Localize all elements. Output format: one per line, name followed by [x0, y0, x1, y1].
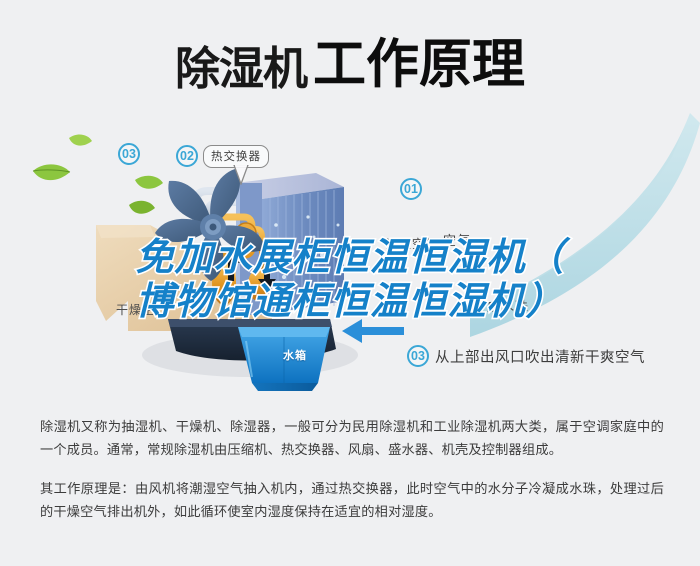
step-marker-02: 02 — [176, 145, 198, 167]
caption-text-03: 从上部出风口吹出清新干爽空气 — [435, 346, 645, 367]
page-title: 除湿机工作原理 — [0, 22, 700, 98]
dehumidifier-diagram: 03 干燥空气 02 热交换器 01 潮湿空气 水箱 空气 成水珠 03 从上部… — [0, 105, 700, 410]
caption-row-03: 03 从上部出风口吹出清新干爽空气 — [407, 345, 645, 367]
body-paragraph-1: 除湿机又称为抽湿机、干燥机、除湿器，一般可分为民用除湿机和工业除湿机两大类，属于… — [40, 415, 664, 461]
step-marker-01: 01 — [400, 178, 422, 200]
body-copy: 除湿机又称为抽湿机、干燥机、除湿器，一般可分为民用除湿机和工业除湿机两大类，属于… — [40, 415, 664, 523]
step-marker-03: 03 — [118, 143, 140, 165]
body-paragraph-2: 其工作原理是：由风机将潮湿空气抽入机内，通过热交换器，此时空气中的水分子冷凝成水… — [40, 477, 664, 523]
intake-arrow — [342, 319, 404, 343]
water-tank-label: 水箱 — [283, 347, 307, 363]
page-title-part2: 工作原理 — [313, 35, 525, 94]
callout-tail-icon — [232, 165, 250, 185]
humid-air-label: 潮湿空气 — [386, 235, 438, 252]
dry-air-label: 干燥空气 — [116, 301, 168, 318]
occluded-caption-2: 成水珠 — [487, 296, 529, 315]
leaf-cluster — [33, 134, 163, 213]
caption-marker-03: 03 — [407, 345, 429, 367]
page-title-part1: 除湿机 — [175, 43, 307, 94]
occluded-caption-1: 空气 — [443, 230, 471, 249]
infographic-page: 除湿机工作原理 — [0, 0, 700, 566]
